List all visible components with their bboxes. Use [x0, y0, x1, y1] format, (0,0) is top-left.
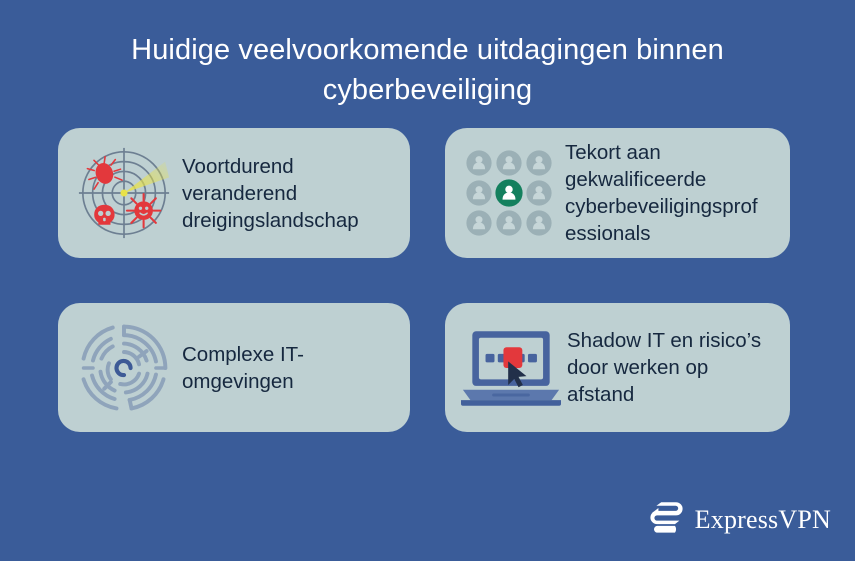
card-label: Voortdurend veranderend dreigingslandsch… [174, 153, 392, 234]
expressvpn-mark-icon [648, 501, 684, 539]
card-label: Shadow IT en risico’s door werken op afs… [561, 327, 771, 408]
card-label: Complexe IT-omgevingen [174, 341, 392, 395]
laptop-cursor-icon [461, 325, 561, 411]
page-title: Huidige veelvoorkomende uitdagingen binn… [60, 30, 795, 110]
people-grid-icon [461, 143, 557, 243]
card-talent-shortage: Tekort aan gekwalificeerde cyberbeveilig… [445, 128, 790, 258]
card-label: Tekort aan gekwalificeerde cyberbeveilig… [557, 139, 762, 247]
radar-threats-icon [74, 143, 174, 243]
maze-icon [74, 318, 174, 418]
card-complex-it: Complexe IT-omgevingen [58, 303, 410, 432]
card-shadow-it: Shadow IT en risico’s door werken op afs… [445, 303, 790, 432]
expressvpn-wordmark: ExpressVPN [695, 505, 831, 535]
expressvpn-logo: ExpressVPN [648, 501, 831, 539]
infographic-poster: Huidige veelvoorkomende uitdagingen binn… [0, 0, 855, 561]
card-threat-landscape: Voortdurend veranderend dreigingslandsch… [58, 128, 410, 258]
